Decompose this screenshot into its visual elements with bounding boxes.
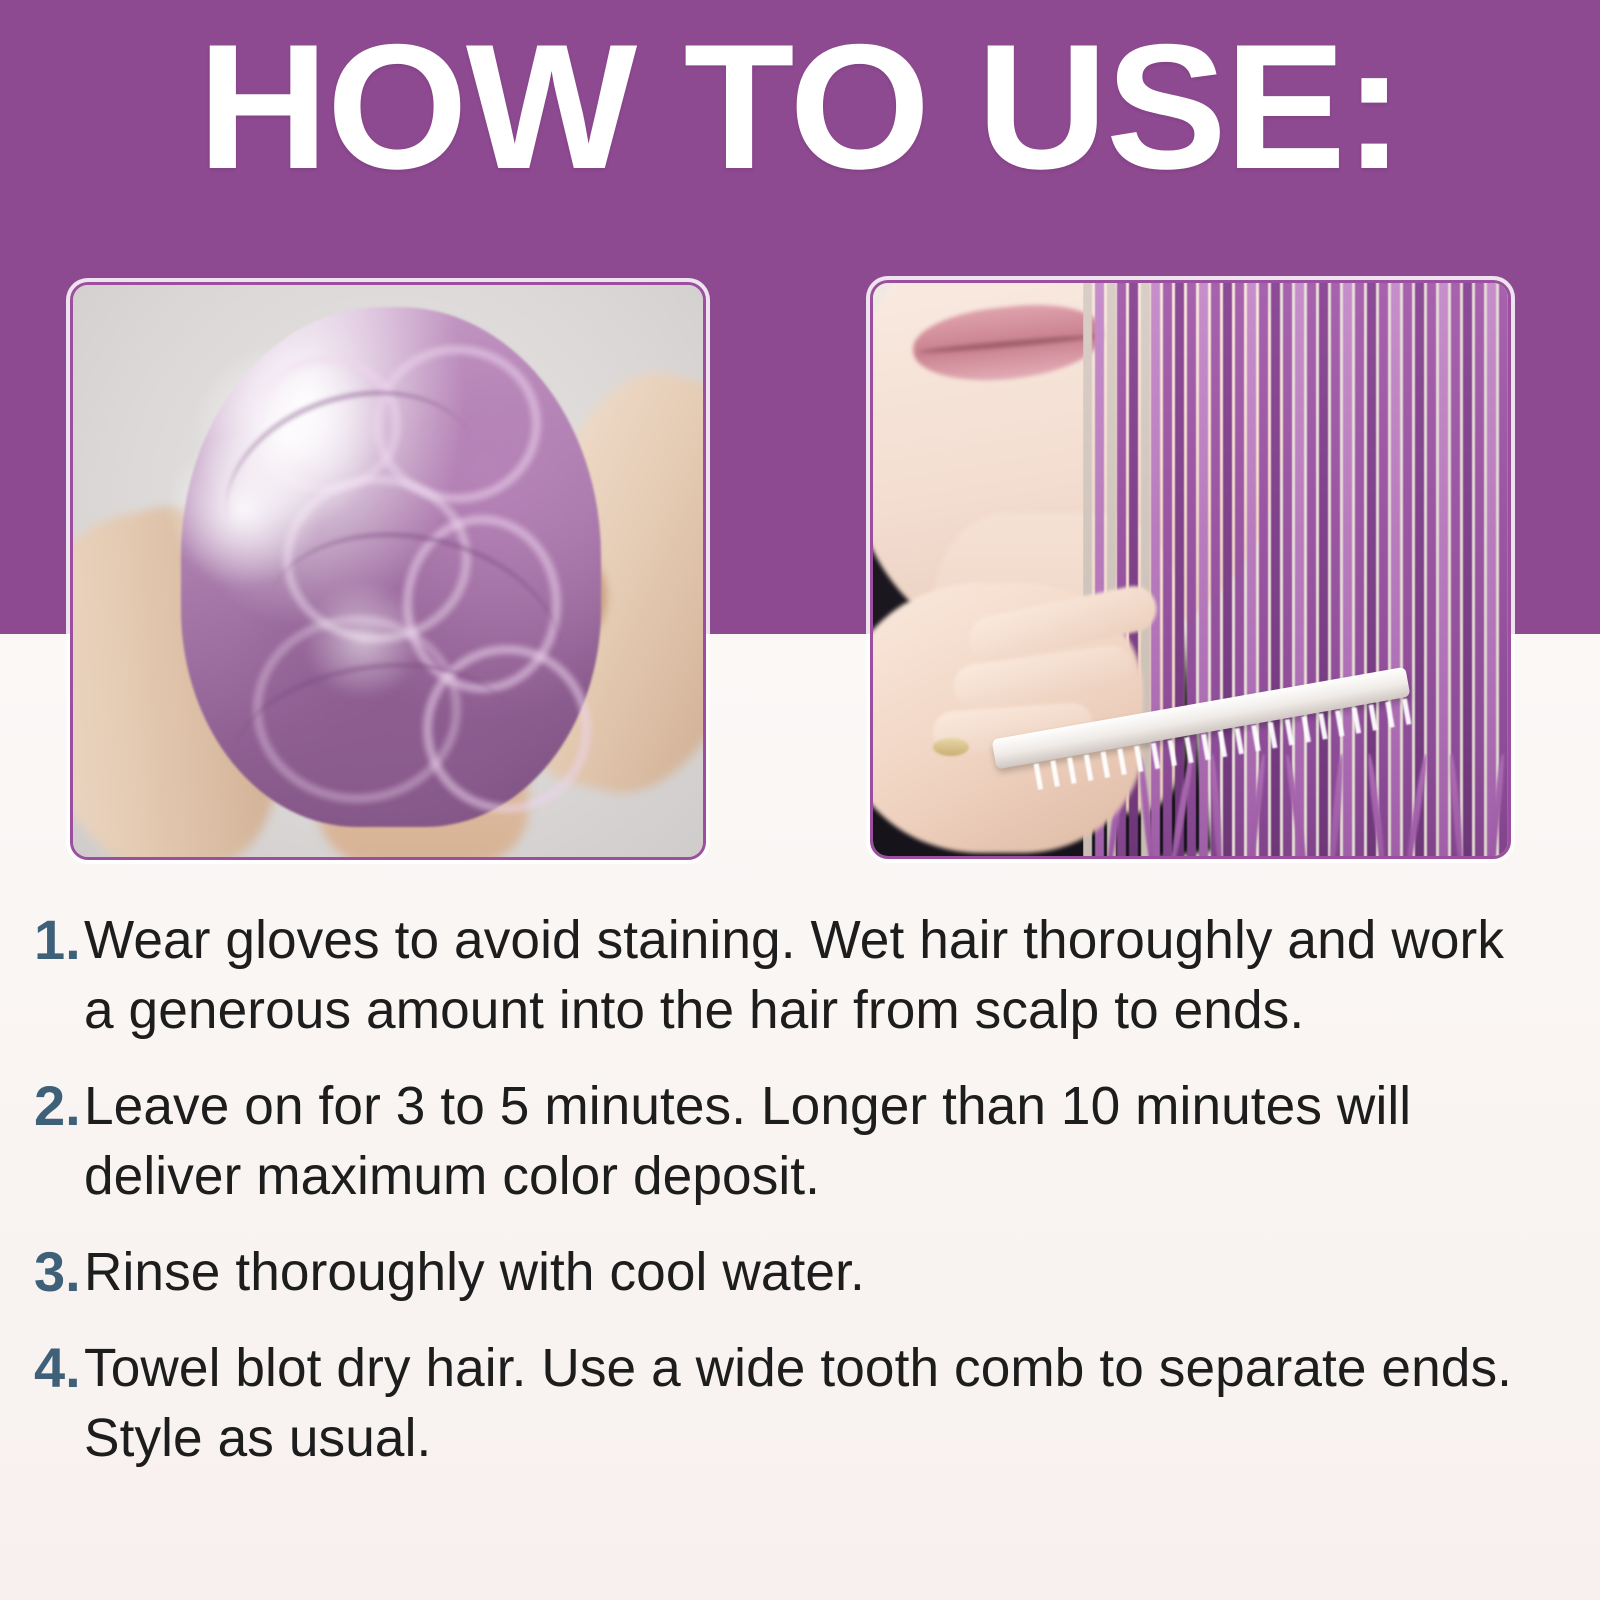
how-to-use-infographic: HOW TO USE: <box>0 0 1600 1600</box>
photo-row <box>0 0 1600 900</box>
step-number: 2. <box>26 1071 84 1141</box>
instruction-step: 4. Towel blot dry hair. Use a wide tooth… <box>26 1333 1564 1473</box>
step-text: Rinse thoroughly with cool water. <box>84 1237 1542 1307</box>
instruction-step: 1. Wear gloves to avoid staining. Wet ha… <box>26 905 1564 1045</box>
hair-ends <box>1103 753 1508 856</box>
instruction-step: 3. Rinse thoroughly with cool water. <box>26 1237 1564 1307</box>
ring <box>933 738 969 756</box>
step-number: 4. <box>26 1333 84 1403</box>
combing-hair-photo <box>870 280 1511 859</box>
instruction-steps: 1. Wear gloves to avoid staining. Wet ha… <box>0 905 1600 1499</box>
step-text: Leave on for 3 to 5 minutes. Longer than… <box>84 1071 1542 1211</box>
step-text: Wear gloves to avoid staining. Wet hair … <box>84 905 1542 1045</box>
step-text: Towel blot dry hair. Use a wide tooth co… <box>84 1333 1542 1473</box>
step-number: 1. <box>26 905 84 975</box>
instruction-step: 2. Leave on for 3 to 5 minutes. Longer t… <box>26 1071 1564 1211</box>
step-number: 3. <box>26 1237 84 1307</box>
lathering-shampoo-photo <box>70 282 706 860</box>
